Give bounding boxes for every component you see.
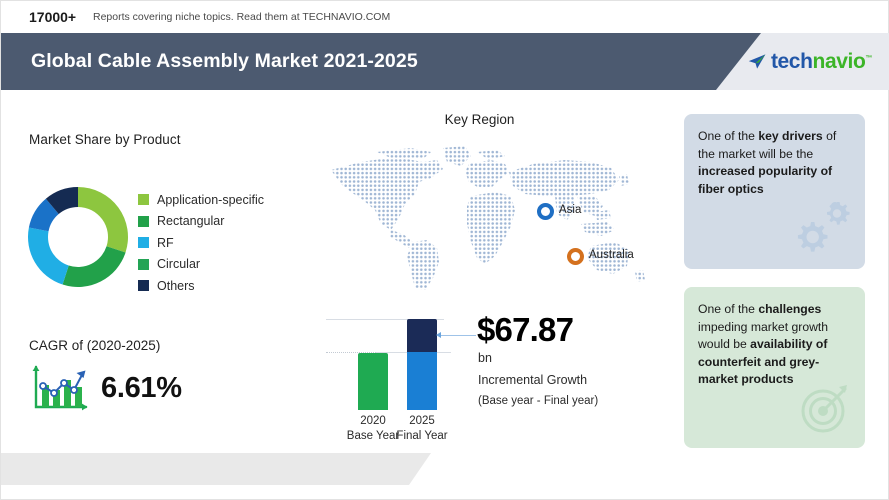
marker-ring-icon [567,248,584,265]
infographic-page: Global Cable Assembly Market 2021-2025 t… [0,0,889,500]
growth-chart-icon [28,364,90,419]
incremental-growth-chart: 2020 Base Year 2025 Final Year $67.87 bn… [326,306,646,446]
incremental-growth-caption: Incremental Growth [478,373,587,387]
incremental-growth-amount: $67.87 [477,311,573,349]
challenges-text: One of the challenges impeding market gr… [698,301,853,389]
leader-arrow-icon [436,332,441,338]
legend-label: Application-specific [157,193,264,207]
world-map [319,138,649,293]
legend-item-rf: RF [138,232,264,253]
donut-slice-rectangular [63,246,126,287]
marker-ring-icon [537,203,554,220]
legend-label: RF [157,236,174,250]
challenge-text-part-2: challenges [758,302,821,316]
legend-item-others: Others [138,275,264,296]
legend-swatch-icon [138,280,149,291]
donut-slice-rf [28,227,69,284]
legend-swatch-icon [138,259,149,270]
map-marker-label: Asia [559,204,581,216]
key-drivers-text: One of the key drivers of the market wil… [698,128,853,198]
cagr-value: 6.61% [101,372,182,405]
legend-swatch-icon [138,216,149,227]
challenge-text-part-1: One of the [698,302,758,316]
driver-text-part-4: increased popularity of fiber optics [698,164,832,196]
bar-role: Final Year [396,430,447,442]
map-marker-label: Australia [589,249,634,261]
driver-text-part-2: key drivers [758,129,822,143]
challenges-panel: One of the challenges impeding market gr… [684,287,865,448]
legend-label: Others [157,279,195,293]
legend-item-application-specific: Application-specific [138,189,264,210]
bar-year: 2025 [409,415,435,427]
legend-item-circular: Circular [138,254,264,275]
legend-swatch-icon [138,237,149,248]
footer-tagline: Reports covering niche topics. Read them… [93,1,390,33]
map-marker-asia[interactable]: Asia [537,203,554,220]
footer-banner [1,453,431,485]
map-marker-australia[interactable]: Australia [567,248,584,265]
page-title: Global Cable Assembly Market 2021-2025 [31,33,418,90]
market-share-title: Market Share by Product [29,132,181,147]
paper-plane-icon [748,52,767,71]
incremental-growth-unit: bn [478,351,492,365]
legend-label: Circular [157,257,200,271]
leader-line [439,335,476,336]
logo-text-navio: navio [813,50,866,73]
driver-text-part-1: One of the [698,129,758,143]
logo-trademark: ™ [865,55,872,62]
bar-2025-increment [407,319,437,352]
incremental-growth-subcaption: (Base year - Final year) [478,395,598,407]
legend-label: Rectangular [157,214,224,228]
bar-2025-base [407,352,437,410]
bar-role: Base Year [347,430,399,442]
market-share-legend: Application-specific Rectangular RF Circ… [138,189,264,297]
technavio-logo[interactable]: technavio™ [748,33,872,90]
footer-report-count: 17000+ [29,1,76,33]
market-share-donut-chart [23,181,133,293]
cagr-title: CAGR of (2020-2025) [29,338,160,353]
gears-icon [789,202,861,267]
key-region-title-text: Key Region [445,112,515,127]
header: Global Cable Assembly Market 2021-2025 t… [1,33,889,90]
key-drivers-panel: One of the key drivers of the market wil… [684,114,865,269]
bar-year: 2020 [360,415,386,427]
bar-label-2025: 2025 Final Year [393,414,451,444]
legend-swatch-icon [138,194,149,205]
logo-text-tech: tech [771,50,813,73]
bar-2020-base [358,353,388,410]
donut-slice-application-specific [78,187,128,252]
legend-item-rectangular: Rectangular [138,211,264,232]
